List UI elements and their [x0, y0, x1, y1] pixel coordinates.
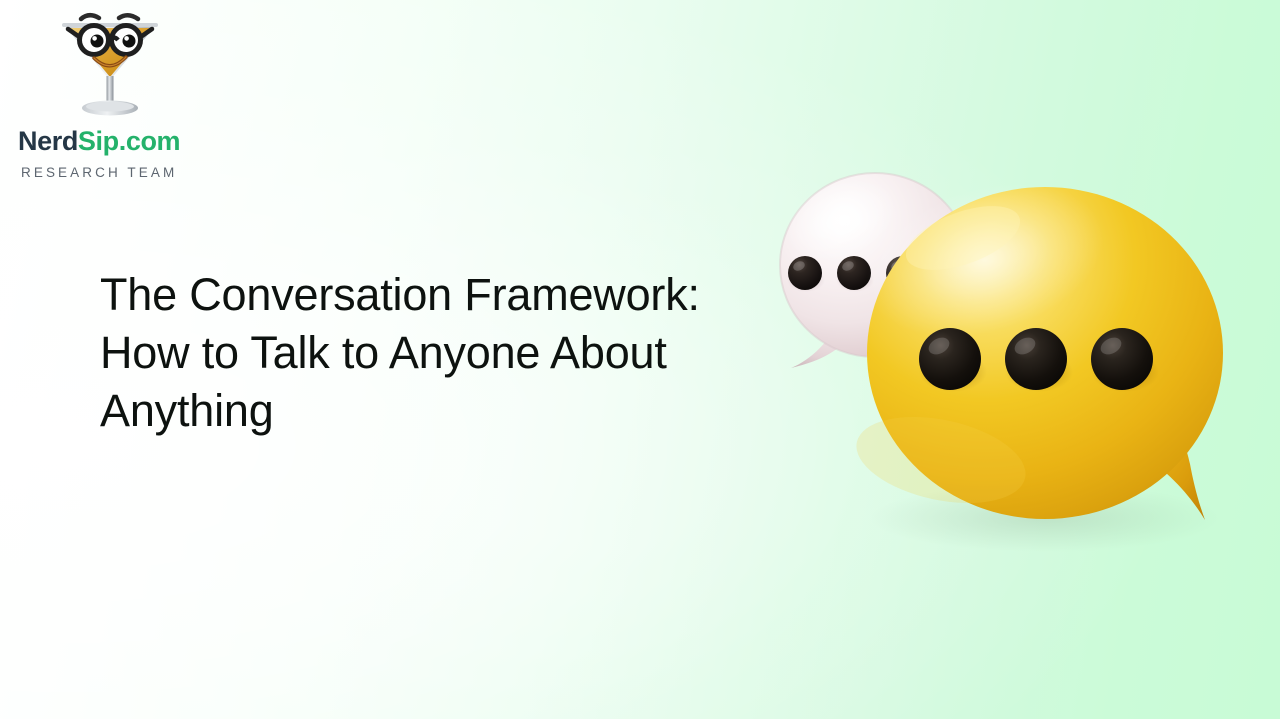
brand-subtitle: RESEARCH TEAM — [21, 165, 180, 180]
page-title-line-3: Anything — [100, 382, 760, 440]
brand-wordmark-secondary: Sip.com — [78, 126, 180, 156]
brand-wordmark-primary: Nerd — [18, 126, 78, 156]
brand-wordmark: NerdSip.com — [18, 128, 180, 155]
martini-glass-icon — [56, 8, 164, 120]
hero-banner: NerdSip.com RESEARCH TEAM The Conversati… — [0, 0, 1280, 719]
brand-logo[interactable]: NerdSip.com RESEARCH TEAM — [18, 8, 180, 180]
page-title-line-1: The Conversation Framework: — [100, 266, 760, 324]
yellow-bubble-typing-dots — [919, 328, 1153, 390]
page-title-line-2: How to Talk to Anyone About — [100, 324, 760, 382]
page-title: The Conversation Framework: How to Talk … — [100, 266, 760, 440]
speech-bubbles-illustration — [745, 168, 1265, 558]
